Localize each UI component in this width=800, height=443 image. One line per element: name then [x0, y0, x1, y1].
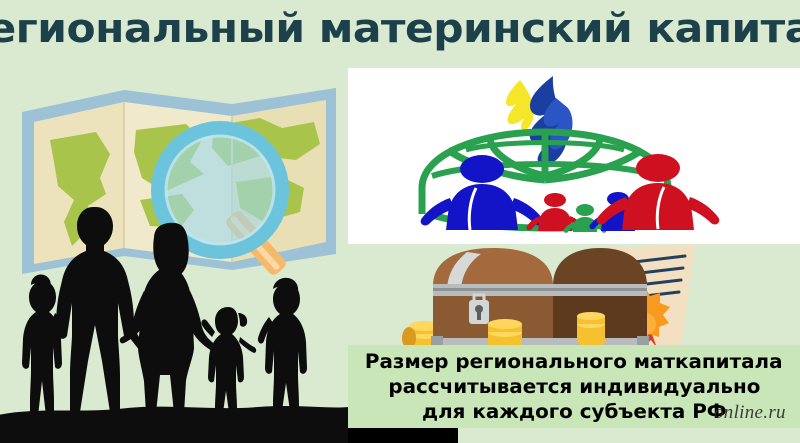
caption-line-3: для каждого субъекта РФ	[422, 399, 727, 424]
chest-icon	[431, 248, 649, 348]
family-silhouette-illustration	[0, 185, 348, 443]
treasure-and-certificate-illustration	[395, 242, 800, 352]
treasure-chest-icon	[395, 242, 800, 352]
poster-canvas: Региональный материнский капитал	[0, 0, 800, 443]
silhouette-child-small	[201, 307, 256, 423]
silhouette-child-right	[258, 278, 307, 421]
watermark-text: online.ru	[714, 402, 786, 424]
silhouette-father	[44, 207, 147, 416]
caption-line-1: Размер регионального маткапитала	[365, 349, 783, 374]
family-of-five-icon	[0, 185, 348, 443]
poster-title-bar: Региональный материнский капитал	[0, 0, 800, 58]
logo-panel	[348, 68, 800, 244]
page-title: Региональный материнский капитал	[0, 9, 800, 49]
flame-icon	[506, 76, 573, 165]
family-globe-emblem-icon	[370, 68, 730, 244]
coin-stack-right	[577, 312, 605, 346]
caption-line-2: рассчитывается индивидуально	[388, 374, 760, 399]
